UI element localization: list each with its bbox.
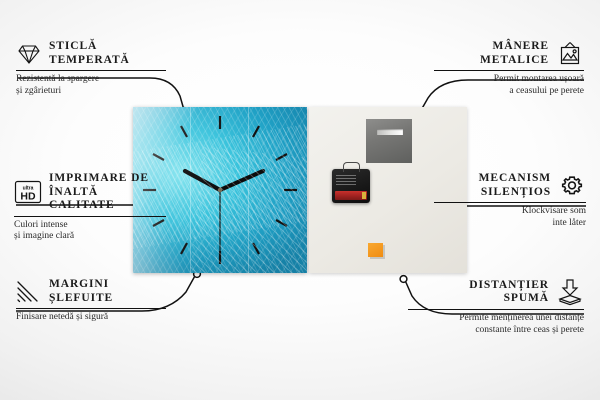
callout-metal-handles: MÂNERE METALICE Permit montarea ușoară a… [434,40,584,97]
callout-description: Permite menținerea unei distanțe constan… [408,313,584,336]
connector-dot-foam-spacer [400,276,407,283]
callout-title: MECANISM SILENȚIOS [434,172,551,199]
clock-hour-hand [220,171,263,190]
gear-icon [558,173,586,199]
foam-spacer-pad [368,243,383,257]
mechanism-hanging-loop [343,162,360,172]
clock-center-cap [218,188,222,192]
callout-title: MARGINI ȘLEFUITE [49,278,113,305]
callout-title: DISTANȚIER SPUMĂ [408,279,549,306]
press-down-pad-icon [556,278,584,306]
diamond-icon [16,43,42,65]
ultra-hd-icon-main-text: HD [20,191,36,203]
callout-description: Klockvisare som inte låter [434,206,586,229]
callout-rule [434,70,584,71]
battery [335,191,367,200]
callout-description: Permit montarea ușoară a ceasului pe per… [434,74,584,97]
callout-rule [434,202,586,203]
hanger-plate [366,119,412,163]
callout-title: MÂNERE METALICE [434,40,549,67]
clock-mechanism [332,169,370,203]
diagonal-lines-icon [16,280,42,304]
callout-description: Rezistentă la spargere și zgârieturi [16,74,166,97]
callout-hd-print: ultra HD IMPRIMARE DE ÎNALTĂ CALITATE Cu… [14,172,166,243]
callout-rule [14,216,166,217]
callout-title: IMPRIMARE DE ÎNALTĂ CALITATE [49,172,166,213]
callout-tempered-glass: STICLĂ TEMPERATĂ Rezistentă la spargere … [16,40,166,97]
callout-polished-edges: MARGINI ȘLEFUITE Finisare netedă și sigu… [16,278,166,324]
product-image [133,107,467,273]
callout-foam-spacer: DISTANȚIER SPUMĂ Permite menținerea unei… [408,278,584,336]
hanging-picture-frame-icon [556,41,584,67]
ultra-hd-icon: ultra HD [14,180,42,204]
callout-rule [408,309,584,310]
callout-description: Culori intense și imagine clară [14,220,166,243]
callout-title: STICLĂ TEMPERATĂ [49,40,130,67]
callout-silent-mechanism: MECANISM SILENȚIOS Klockvisare som inte … [434,172,586,229]
mechanism-label [336,174,356,185]
callout-description: Finisare netedă și sigură [16,312,166,324]
clock-minute-hand [185,171,220,190]
infographic-canvas: STICLĂ TEMPERATĂ Rezistentă la spargere … [0,0,600,400]
callout-rule [16,308,166,309]
hanger-slot [377,129,403,135]
callout-rule [16,70,166,71]
